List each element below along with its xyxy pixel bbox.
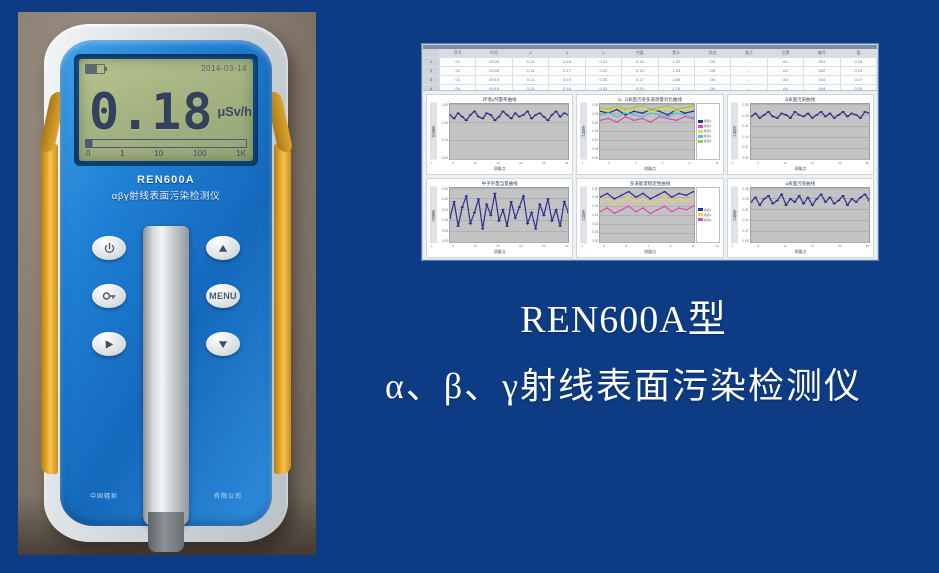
chart-data-point bbox=[671, 196, 674, 198]
table-corner-cell bbox=[423, 49, 440, 57]
table-cell: 0.21 bbox=[586, 58, 622, 66]
radiation-detector-device: 2014-03-14 0.18 μSv/h 01101001K bbox=[44, 24, 288, 542]
key-button[interactable] bbox=[92, 284, 126, 308]
chart-x-tick: 20 bbox=[838, 244, 841, 248]
key-icon bbox=[102, 290, 117, 302]
chart-gridline bbox=[751, 242, 869, 243]
chart-gridline bbox=[600, 159, 693, 160]
chart-y-tick: 0.20 bbox=[438, 121, 448, 125]
chart-y-tick: 0.20 bbox=[588, 121, 598, 125]
chart-data-point bbox=[656, 194, 659, 196]
chart-data-point bbox=[465, 120, 468, 122]
chart-data-point bbox=[628, 190, 631, 192]
chart-data-point bbox=[493, 120, 496, 122]
chart-data-point bbox=[635, 210, 638, 212]
chart-data-point bbox=[505, 114, 508, 116]
chart-gridline bbox=[600, 242, 693, 243]
chart-plot-area bbox=[599, 103, 694, 160]
chart-data-point bbox=[664, 190, 667, 192]
table-cell: 0.18 bbox=[549, 58, 585, 66]
up-button[interactable] bbox=[206, 236, 240, 260]
chart-plot-area bbox=[449, 187, 569, 244]
chart-data-point bbox=[684, 109, 687, 111]
table-cell: 01 bbox=[440, 58, 476, 66]
chart-plot-area bbox=[750, 187, 870, 244]
chart-x-tick: 7 bbox=[648, 244, 650, 248]
chart-data-point bbox=[563, 112, 566, 114]
table-row-header: 1 bbox=[423, 58, 440, 66]
chart-x-tick: 10 bbox=[783, 244, 786, 248]
chart-data-point bbox=[784, 204, 787, 206]
chart-data-point bbox=[477, 198, 480, 200]
chart-data-point bbox=[649, 212, 652, 214]
chart-data-point bbox=[685, 199, 688, 201]
table-cell: 0.11 bbox=[513, 76, 549, 84]
table-row[interactable]: 20209:050.140.170.220.191.39OK--A20020.1… bbox=[423, 67, 877, 76]
power-icon bbox=[103, 242, 116, 255]
chart-data-point bbox=[606, 192, 609, 194]
chart-data-point bbox=[641, 105, 644, 107]
chart-data-point bbox=[452, 200, 455, 202]
chart-data-point bbox=[828, 196, 831, 198]
table-cell: 0.19 bbox=[622, 67, 658, 75]
chart-data-point bbox=[613, 212, 616, 214]
lcd-scale-ticks: 01101001K bbox=[85, 149, 247, 158]
device-faceplate: 2014-03-14 0.18 μSv/h 01101001K bbox=[60, 40, 272, 526]
chart-legend-item: 通道1 bbox=[698, 208, 718, 212]
chart-data-point bbox=[762, 114, 765, 116]
chart-data-point bbox=[664, 196, 667, 198]
chart-x-tick: 10 bbox=[783, 161, 786, 165]
chart-body: 当量率0.400.320.240.160.080.00 bbox=[430, 187, 569, 244]
chart-x-tick: 15 bbox=[496, 161, 499, 165]
chart-legend-item: 通道2 bbox=[698, 124, 718, 128]
table-cell: 0.17 bbox=[622, 76, 658, 84]
chart-data-point bbox=[675, 120, 678, 122]
chart-data-point bbox=[678, 192, 681, 194]
table-cell: 09:00 bbox=[476, 58, 512, 66]
table-cell: 002 bbox=[804, 67, 840, 75]
chart-data-point bbox=[461, 116, 464, 118]
chart-data-point bbox=[624, 116, 627, 118]
chart-data-point bbox=[522, 195, 525, 197]
table-cell: 0.19 bbox=[841, 67, 877, 75]
chart-data-point bbox=[832, 117, 835, 119]
chart-data-point bbox=[514, 217, 517, 219]
power-button[interactable] bbox=[92, 236, 126, 260]
table-column-header: 状态 bbox=[695, 49, 731, 57]
table-cell: -- bbox=[731, 67, 767, 75]
chart-data-point bbox=[863, 193, 866, 195]
chart-legend-item: 通道3 bbox=[698, 218, 718, 222]
chart-data-point bbox=[841, 111, 844, 113]
chart-data-point bbox=[678, 207, 681, 209]
chart-x-tick: 5 bbox=[757, 161, 759, 165]
chart-x-tick: 20 bbox=[519, 161, 522, 165]
chart-data-point bbox=[550, 219, 553, 221]
chart-series-line bbox=[450, 193, 568, 228]
chart-x-tick: 1 bbox=[732, 244, 734, 248]
lcd-scale-tick: 10 bbox=[154, 149, 163, 158]
table-cell: 09:05 bbox=[476, 67, 512, 75]
chart-data-point bbox=[832, 202, 835, 204]
chart-legend-item: 通道3 bbox=[698, 129, 718, 133]
chart-data-point bbox=[559, 116, 562, 118]
chart-data-point bbox=[608, 112, 611, 114]
chart-x-axis-label: 测量点 bbox=[430, 166, 569, 172]
chart-x-tick: 10 bbox=[473, 161, 476, 165]
chart-y-axis-label: 计数率 bbox=[731, 187, 738, 244]
play-button[interactable] bbox=[92, 332, 126, 356]
chart-data-point bbox=[616, 105, 619, 107]
chart-y-tick: 0.00 bbox=[438, 239, 448, 243]
chart-x-tick: 25 bbox=[542, 161, 545, 165]
chart-data-point bbox=[845, 116, 848, 118]
chart-panel[interactable]: α表面污染曲线计数率0.350.280.210.140.070.00151015… bbox=[727, 178, 874, 259]
chart-data-point bbox=[685, 209, 688, 211]
chart-body: 计数率0.350.280.210.140.070.00 bbox=[731, 103, 870, 160]
chart-y-tick: 0.05 bbox=[588, 230, 598, 234]
triangle-right-icon bbox=[103, 339, 115, 350]
chart-y-tick: 0.10 bbox=[588, 222, 598, 226]
chart-y-tick: 0.14 bbox=[739, 218, 749, 222]
device-bottom-tab bbox=[148, 512, 184, 552]
chart-y-axis-label: 当量率 bbox=[430, 187, 437, 244]
chart-data-point bbox=[546, 120, 549, 122]
table-column-header: γ bbox=[586, 49, 622, 57]
chart-data-point bbox=[469, 222, 472, 224]
chart-data-point bbox=[854, 114, 857, 116]
table-cell: 02 bbox=[440, 67, 476, 75]
table-cell: 1.56 bbox=[659, 76, 695, 84]
chart-data-point bbox=[642, 198, 645, 200]
chart-data-point bbox=[542, 116, 545, 118]
table-column-header: 编号 bbox=[804, 49, 840, 57]
chart-y-tick: 0.16 bbox=[438, 218, 448, 222]
chart-y-tick: 0.15 bbox=[588, 213, 598, 217]
chart-data-point bbox=[624, 112, 627, 114]
table-column-header: 剂量 bbox=[622, 49, 658, 57]
chart-data-point bbox=[823, 201, 826, 203]
chart-data-point bbox=[753, 113, 756, 115]
chart-data-point bbox=[771, 202, 774, 204]
chart-data-point bbox=[788, 117, 791, 119]
chart-data-point bbox=[667, 105, 670, 107]
chart-x-tick: 7 bbox=[662, 161, 664, 165]
chart-data-point bbox=[624, 114, 627, 116]
chart-x-tick: 5 bbox=[625, 244, 627, 248]
chart-data-point bbox=[514, 112, 517, 114]
chart-data-point bbox=[477, 116, 480, 118]
chart-data-point bbox=[538, 203, 541, 205]
chart-x-tick: 1 bbox=[431, 161, 433, 165]
chart-y-tick: 0.28 bbox=[739, 197, 749, 201]
chart-legend-swatch bbox=[698, 120, 703, 123]
chart-series-line bbox=[600, 113, 693, 117]
chart-data-point bbox=[656, 209, 659, 211]
chart-y-tick: 0.30 bbox=[588, 103, 598, 107]
chart-x-tick: 5 bbox=[757, 244, 759, 248]
chart-data-point bbox=[538, 112, 541, 114]
chart-x-tick: 5 bbox=[635, 161, 637, 165]
device-subtitle-text: αβγ射线表面污染检测仪 bbox=[60, 188, 272, 202]
chart-data-point bbox=[658, 109, 661, 111]
chart-data-point bbox=[819, 111, 822, 113]
chart-data-point bbox=[493, 192, 496, 194]
table-cell: 1.39 bbox=[659, 67, 695, 75]
grip-right bbox=[274, 144, 291, 474]
chart-x-axis-label: 测量点 bbox=[430, 249, 569, 255]
table-cell: OK bbox=[695, 58, 731, 66]
chart-data-point bbox=[658, 107, 661, 109]
chart-y-ticks: 0.350.280.210.140.070.00 bbox=[739, 103, 750, 160]
table-row[interactable]: 30309:100.110.190.200.171.56OK--A30030.1… bbox=[423, 76, 877, 85]
chart-x-ticks: 1510152025 bbox=[731, 161, 870, 165]
chart-data-point bbox=[628, 196, 631, 198]
device-bottom-left-text: 中国辐射 bbox=[90, 491, 118, 500]
table-row[interactable]: 10109:000.120.180.210.181.20OK--A10010.1… bbox=[423, 58, 877, 67]
chart-panel[interactable]: 多道能谱稳定性曲线计数率0.300.250.200.150.100.050.00… bbox=[576, 178, 723, 259]
chart-data-point bbox=[485, 112, 488, 114]
chart-data-point bbox=[664, 205, 667, 207]
chart-y-axis-label: 剂量率 bbox=[430, 103, 437, 160]
chart-panel[interactable]: 中子剂量当量曲线当量率0.400.320.240.160.080.0015101… bbox=[426, 178, 573, 259]
chart-legend-label: 通道4 bbox=[704, 134, 712, 138]
chart-data-point bbox=[797, 195, 800, 197]
table-cell: 03 bbox=[440, 76, 476, 84]
chart-data-point bbox=[758, 204, 761, 206]
dashboard-data-table: 序号时间αβγ剂量累计状态备注位置编号值10109:000.120.180.21… bbox=[423, 49, 877, 91]
chart-series-line bbox=[450, 111, 568, 120]
menu-button[interactable]: MENU bbox=[206, 284, 240, 308]
chart-x-ticks: 151015202530 bbox=[430, 161, 569, 165]
chart-gridline bbox=[450, 159, 568, 160]
chart-data-point bbox=[658, 111, 661, 113]
chart-y-axis-label: 计数率 bbox=[580, 187, 587, 244]
battery-icon bbox=[85, 64, 105, 74]
chart-data-point bbox=[859, 117, 862, 119]
chart-y-tick: 0.08 bbox=[438, 229, 448, 233]
chart-data-point bbox=[616, 107, 619, 109]
chart-data-point bbox=[667, 116, 670, 118]
chart-data-point bbox=[641, 107, 644, 109]
chart-data-point bbox=[863, 111, 866, 113]
lcd-status-right: 2014-03-14 bbox=[201, 64, 247, 73]
chart-data-point bbox=[505, 225, 508, 227]
chart-plot-area bbox=[599, 187, 694, 244]
chart-data-point bbox=[546, 198, 549, 200]
chart-y-ticks: 0.400.320.240.160.080.00 bbox=[438, 187, 449, 244]
chart-legend: 通道1通道2通道3 bbox=[696, 187, 720, 244]
chart-y-tick: 0.00 bbox=[739, 156, 749, 160]
chart-data-point bbox=[465, 195, 468, 197]
chart-data-point bbox=[771, 116, 774, 118]
chart-x-tick: 3 bbox=[603, 244, 605, 248]
chart-y-tick: 0.00 bbox=[438, 156, 448, 160]
chart-x-tick: 9 bbox=[689, 161, 691, 165]
chart-data-point bbox=[616, 109, 619, 111]
chart-y-ticks: 0.300.250.200.150.100.050.00 bbox=[588, 187, 599, 244]
chart-data-point bbox=[850, 198, 853, 200]
caption-description: α、β、γ射线表面污染检测仪 bbox=[316, 364, 931, 409]
chart-data-point bbox=[650, 112, 653, 114]
lcd-scale-tick: 0 bbox=[86, 149, 90, 158]
chart-data-point bbox=[780, 193, 783, 195]
chart-legend-label: 通道2 bbox=[704, 124, 712, 128]
chart-data-point bbox=[554, 111, 557, 113]
chart-data-point bbox=[534, 228, 537, 230]
lcd-reading: 0.18 μSv/h bbox=[89, 79, 247, 135]
chart-data-point bbox=[481, 228, 484, 230]
chart-x-tick: 5 bbox=[452, 244, 454, 248]
chart-legend-item: 通道1 bbox=[698, 119, 718, 123]
chart-plot-area bbox=[750, 103, 870, 160]
chart-data-point bbox=[845, 204, 848, 206]
chart-y-ticks: 0.300.250.200.150.100.050.00 bbox=[588, 103, 599, 160]
device-center-handle bbox=[143, 226, 189, 526]
chart-legend-item: 通道5 bbox=[698, 139, 718, 143]
chart-data-point bbox=[526, 222, 529, 224]
chart-data-point bbox=[658, 116, 661, 118]
chart-data-point bbox=[649, 203, 652, 205]
chart-x-tick: 11 bbox=[692, 244, 695, 248]
chart-x-ticks: 151015202530 bbox=[430, 244, 569, 248]
chart-y-tick: 0.35 bbox=[739, 103, 749, 107]
chart-data-point bbox=[823, 116, 826, 118]
chart-y-tick: 0.30 bbox=[438, 103, 448, 107]
chart-data-point bbox=[642, 192, 645, 194]
chart-data-point bbox=[641, 116, 644, 118]
lcd-scale-tick: 1 bbox=[120, 149, 124, 158]
chart-x-axis-label: 测量点 bbox=[731, 166, 870, 172]
chart-data-point bbox=[606, 207, 609, 209]
table-column-header: β bbox=[549, 49, 585, 57]
lcd-scale-tick: 1K bbox=[236, 149, 246, 158]
chart-gridline bbox=[450, 242, 568, 243]
chart-data-point bbox=[633, 111, 636, 113]
chart-y-tick: 0.20 bbox=[588, 204, 598, 208]
table-column-header: 时间 bbox=[476, 49, 512, 57]
chart-y-tick: 0.00 bbox=[739, 239, 749, 243]
chart-x-ticks: 1510152025 bbox=[731, 244, 870, 248]
chart-y-tick: 0.21 bbox=[739, 124, 749, 128]
chart-plot-area bbox=[449, 103, 569, 160]
chart-data-point bbox=[633, 114, 636, 116]
chart-legend-label: 通道3 bbox=[704, 129, 712, 133]
device-bottom-right-text: 有限公司 bbox=[214, 491, 242, 500]
table-cell: 0.14 bbox=[513, 67, 549, 75]
down-button[interactable] bbox=[206, 332, 240, 356]
chart-y-tick: 0.05 bbox=[588, 147, 598, 151]
chart-data-point bbox=[501, 209, 504, 211]
chart-legend-swatch bbox=[698, 208, 703, 211]
chart-data-point bbox=[850, 113, 853, 115]
table-row-header: 2 bbox=[423, 67, 440, 75]
chart-data-point bbox=[542, 214, 545, 216]
chart-body: 计数率0.300.250.200.150.100.050.00通道1通道2通道3… bbox=[580, 103, 719, 160]
chart-y-tick: 0.28 bbox=[739, 114, 749, 118]
chart-series-line bbox=[600, 117, 693, 122]
lcd-status-bar: 2014-03-14 bbox=[85, 62, 247, 75]
chart-data-point bbox=[819, 193, 822, 195]
chart-y-axis-label: 计数率 bbox=[580, 103, 587, 160]
table-cell: A3 bbox=[768, 76, 804, 84]
caption-model: REN600A型 bbox=[316, 300, 931, 342]
chart-data-point bbox=[633, 120, 636, 122]
chart-data-point bbox=[450, 217, 452, 219]
chart-series-svg bbox=[450, 188, 568, 243]
table-cell: 1.20 bbox=[659, 58, 695, 66]
chart-data-point bbox=[815, 114, 818, 116]
chart-x-tick: 25 bbox=[542, 244, 545, 248]
table-column-header: 备注 bbox=[731, 49, 767, 57]
chart-x-tick: 15 bbox=[811, 244, 814, 248]
chart-x-tick: 11 bbox=[715, 161, 718, 165]
chart-data-point bbox=[806, 196, 809, 198]
triangle-up-icon bbox=[217, 243, 229, 254]
chart-data-point bbox=[642, 207, 645, 209]
chart-gridline bbox=[751, 159, 869, 160]
chart-data-point bbox=[671, 210, 674, 212]
chart-y-tick: 0.14 bbox=[739, 135, 749, 139]
chart-data-point bbox=[621, 199, 624, 201]
slide-caption: REN600A型 α、β、γ射线表面污染检测仪 bbox=[316, 300, 931, 409]
chart-data-point bbox=[554, 209, 557, 211]
chart-data-point bbox=[633, 109, 636, 111]
chart-x-tick: 20 bbox=[838, 161, 841, 165]
chart-y-ticks: 0.300.200.100.00 bbox=[438, 103, 449, 160]
chart-legend-label: 通道5 bbox=[704, 139, 712, 143]
chart-data-point bbox=[806, 113, 809, 115]
chart-data-point bbox=[621, 194, 624, 196]
chart-data-point bbox=[675, 112, 678, 114]
chart-data-point bbox=[624, 111, 627, 113]
chart-x-tick: 5 bbox=[452, 161, 454, 165]
chart-y-tick: 0.24 bbox=[438, 208, 448, 212]
chart-data-point bbox=[793, 111, 796, 113]
table-column-header: 序号 bbox=[440, 49, 476, 57]
chart-body: 剂量率0.300.200.100.00 bbox=[430, 103, 569, 160]
lcd-reading-unit: μSv/h bbox=[217, 104, 251, 119]
chart-data-point bbox=[684, 112, 687, 114]
chart-data-point bbox=[608, 118, 611, 120]
chart-y-tick: 0.21 bbox=[739, 208, 749, 212]
chart-data-point bbox=[658, 114, 661, 116]
chart-data-point bbox=[854, 201, 857, 203]
chart-data-point bbox=[753, 196, 756, 198]
chart-data-point bbox=[530, 211, 533, 213]
chart-data-point bbox=[671, 201, 674, 203]
table-cell: 0.17 bbox=[549, 67, 585, 75]
table-column-header: 位置 bbox=[768, 49, 804, 57]
chart-data-point bbox=[473, 211, 476, 213]
chart-y-axis-label: 计数率 bbox=[731, 103, 738, 160]
chart-y-tick: 0.00 bbox=[588, 239, 598, 243]
chart-data-point bbox=[559, 225, 562, 227]
chart-panel[interactable]: β表面污染曲线计数率0.350.280.210.140.070.00151015… bbox=[727, 94, 874, 175]
chart-data-point bbox=[775, 199, 778, 201]
chart-series-svg bbox=[600, 188, 693, 243]
slide-background: 2014-03-14 0.18 μSv/h 01101001K bbox=[0, 0, 939, 573]
chart-legend-swatch bbox=[698, 213, 703, 216]
grip-left bbox=[41, 144, 58, 474]
chart-legend: 通道1通道2通道3通道4通道5 bbox=[696, 103, 720, 160]
chart-body: 计数率0.350.280.210.140.070.00 bbox=[731, 187, 870, 244]
chart-panel[interactable]: 环境γ剂量率曲线剂量率0.300.200.100.00151015202530测… bbox=[426, 94, 573, 175]
device-model-plaque: REN600A αβγ射线表面污染检测仪 bbox=[60, 174, 272, 214]
chart-data-point bbox=[667, 114, 670, 116]
chart-panel[interactable]: α、β表面污染多道测量对比曲线计数率0.300.250.200.150.100.… bbox=[576, 94, 723, 175]
